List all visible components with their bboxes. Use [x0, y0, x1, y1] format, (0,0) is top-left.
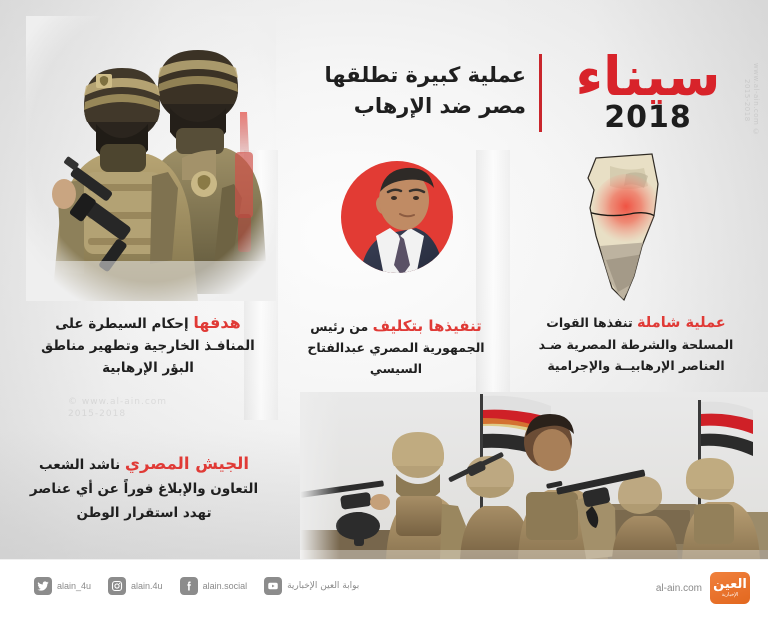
brand-block: سيناء 2018 — [548, 50, 748, 134]
header-divider-rule — [539, 54, 542, 132]
twitter-icon[interactable] — [34, 577, 52, 595]
center-watermark: © www.al-ain.com 2015-2018 — [68, 396, 167, 420]
social-label-twitter: alain_4u — [57, 581, 91, 591]
instagram-icon[interactable] — [108, 577, 126, 595]
social-links: alain_4u alain.4u alai — [34, 577, 376, 595]
fact-lead-authorization: تنفيذها بتكليف — [373, 317, 482, 335]
headline: عملية كبيرة تطلقها مصر ضد الإرهاب — [286, 60, 526, 122]
site-url[interactable]: al-ain.com — [656, 583, 702, 594]
brand-title: سيناء — [548, 50, 748, 104]
center-watermark-line-2: 2015-2018 — [68, 408, 167, 420]
fact-lead-scope: عملية شاملة — [637, 315, 726, 331]
headline-line-1: عملية كبيرة تطلقها — [286, 60, 526, 91]
fact-column-objective: هدفها إحكام السيطرة على المنافـذ الخارجي… — [30, 312, 266, 379]
fact-column-authorization: تنفيذها بتكليف من رئيس الجمهورية المصري … — [296, 316, 496, 379]
social-link-instagram[interactable]: alain.4u — [108, 577, 163, 595]
alain-logo[interactable]: العين الإخبارية — [710, 572, 750, 604]
fact-column-scope: عملية شاملة تنفذها القوات المسلحة والشرط… — [522, 312, 750, 376]
footer-brand: al-ain.com العين الإخبارية — [656, 572, 750, 604]
headline-line-2: مصر ضد الإرهاب — [286, 91, 526, 122]
panel-seam-center — [476, 150, 510, 420]
troops-photo — [300, 392, 768, 560]
social-link-twitter[interactable]: alain_4u — [34, 577, 91, 595]
fact-lead-appeal: الجيش المصري — [125, 454, 249, 473]
president-portrait — [338, 158, 456, 276]
youtube-icon[interactable] — [264, 577, 282, 595]
social-link-facebook[interactable]: alain.social — [180, 577, 248, 595]
sinai-map — [566, 150, 696, 305]
infographic-poster: عملية كبيرة تطلقها مصر ضد الإرهاب سيناء … — [0, 0, 768, 617]
social-label-instagram: alain.4u — [131, 581, 163, 591]
social-link-youtube[interactable]: بوابة العين الإخبارية — [264, 577, 359, 595]
social-label-youtube: بوابة العين الإخبارية — [287, 581, 359, 591]
poster-header: عملية كبيرة تطلقها مصر ضد الإرهاب سيناء … — [280, 48, 748, 148]
fact-lead-objective: هدفها — [193, 313, 240, 332]
facebook-icon[interactable] — [180, 577, 198, 595]
fact-column-appeal: الجيش المصري ناشد الشعب التعاون والإبلاغ… — [20, 452, 268, 525]
logo-sub-text: الإخبارية — [722, 592, 739, 599]
footer-bar: alain_4u alain.4u alai — [0, 559, 768, 617]
center-watermark-line-1: © www.al-ain.com — [68, 396, 167, 408]
logo-main-text: العين — [713, 578, 747, 591]
soldiers-photo — [26, 16, 276, 301]
social-label-facebook: alain.social — [203, 581, 248, 591]
